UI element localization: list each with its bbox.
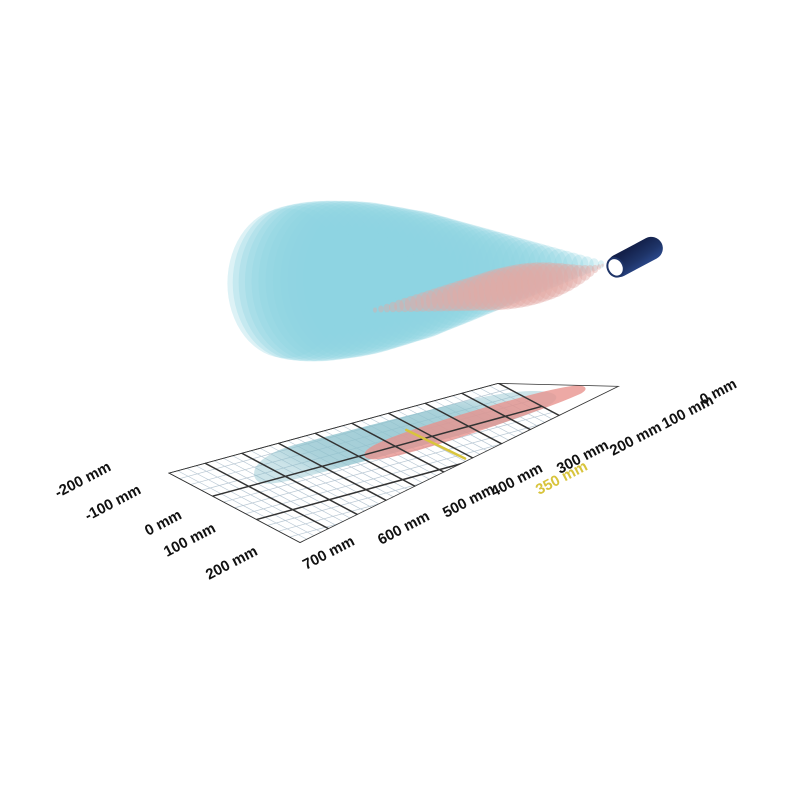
lateral-tick-label: 200 mm bbox=[203, 543, 260, 584]
distance-tick-label: 100 mm bbox=[659, 392, 716, 433]
distance-tick-label: 700 mm bbox=[300, 533, 357, 574]
beam-volume bbox=[227, 201, 604, 362]
lateral-tick-label: -200 mm bbox=[52, 458, 114, 501]
distance-tick-label: 500 mm bbox=[440, 481, 497, 522]
transducer-probe[interactable] bbox=[603, 233, 667, 281]
distance-tick-label: 200 mm bbox=[607, 419, 664, 460]
lateral-tick-label: 0 mm bbox=[142, 506, 185, 539]
figure-canvas: -200 mm -100 mm 0 mm 100 mm 200 mm 0 mm … bbox=[0, 0, 800, 800]
lateral-tick-label: -100 mm bbox=[82, 481, 144, 524]
beam-profile-diagram: -200 mm -100 mm 0 mm 100 mm 200 mm 0 mm … bbox=[0, 0, 800, 800]
distance-tick-label: 600 mm bbox=[375, 508, 432, 549]
